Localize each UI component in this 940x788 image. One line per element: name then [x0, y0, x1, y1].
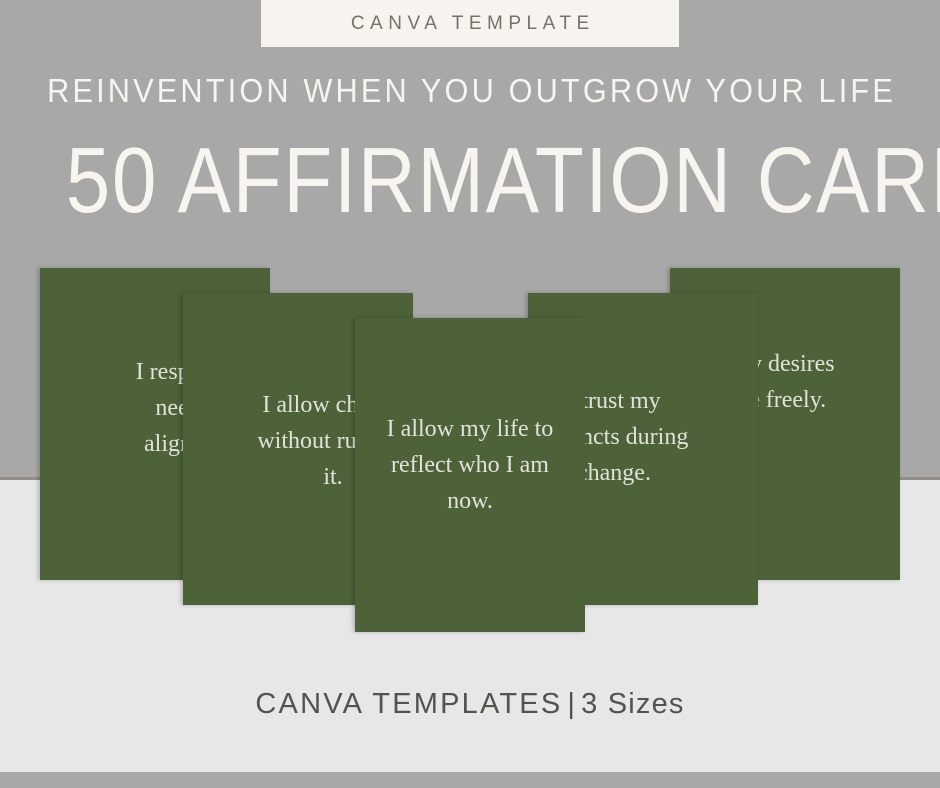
poster-canvas: CANVA TEMPLATE REINVENTION WHEN YOU OUTG…	[0, 0, 940, 788]
footer-separator: |	[562, 688, 581, 720]
footer-caption: CANVA TEMPLATES|3 Sizes	[0, 688, 940, 721]
affirmation-card-stack: I respect myneed foralignment. I allow c…	[0, 0, 940, 788]
affirmation-card-text: I allow my life to reflect who I am now.	[370, 411, 570, 519]
footer-primary-label: CANVA TEMPLATES	[255, 688, 562, 720]
affirmation-card: I allow my life to reflect who I am now.	[355, 318, 585, 632]
footer-secondary-label: 3 Sizes	[581, 688, 685, 720]
